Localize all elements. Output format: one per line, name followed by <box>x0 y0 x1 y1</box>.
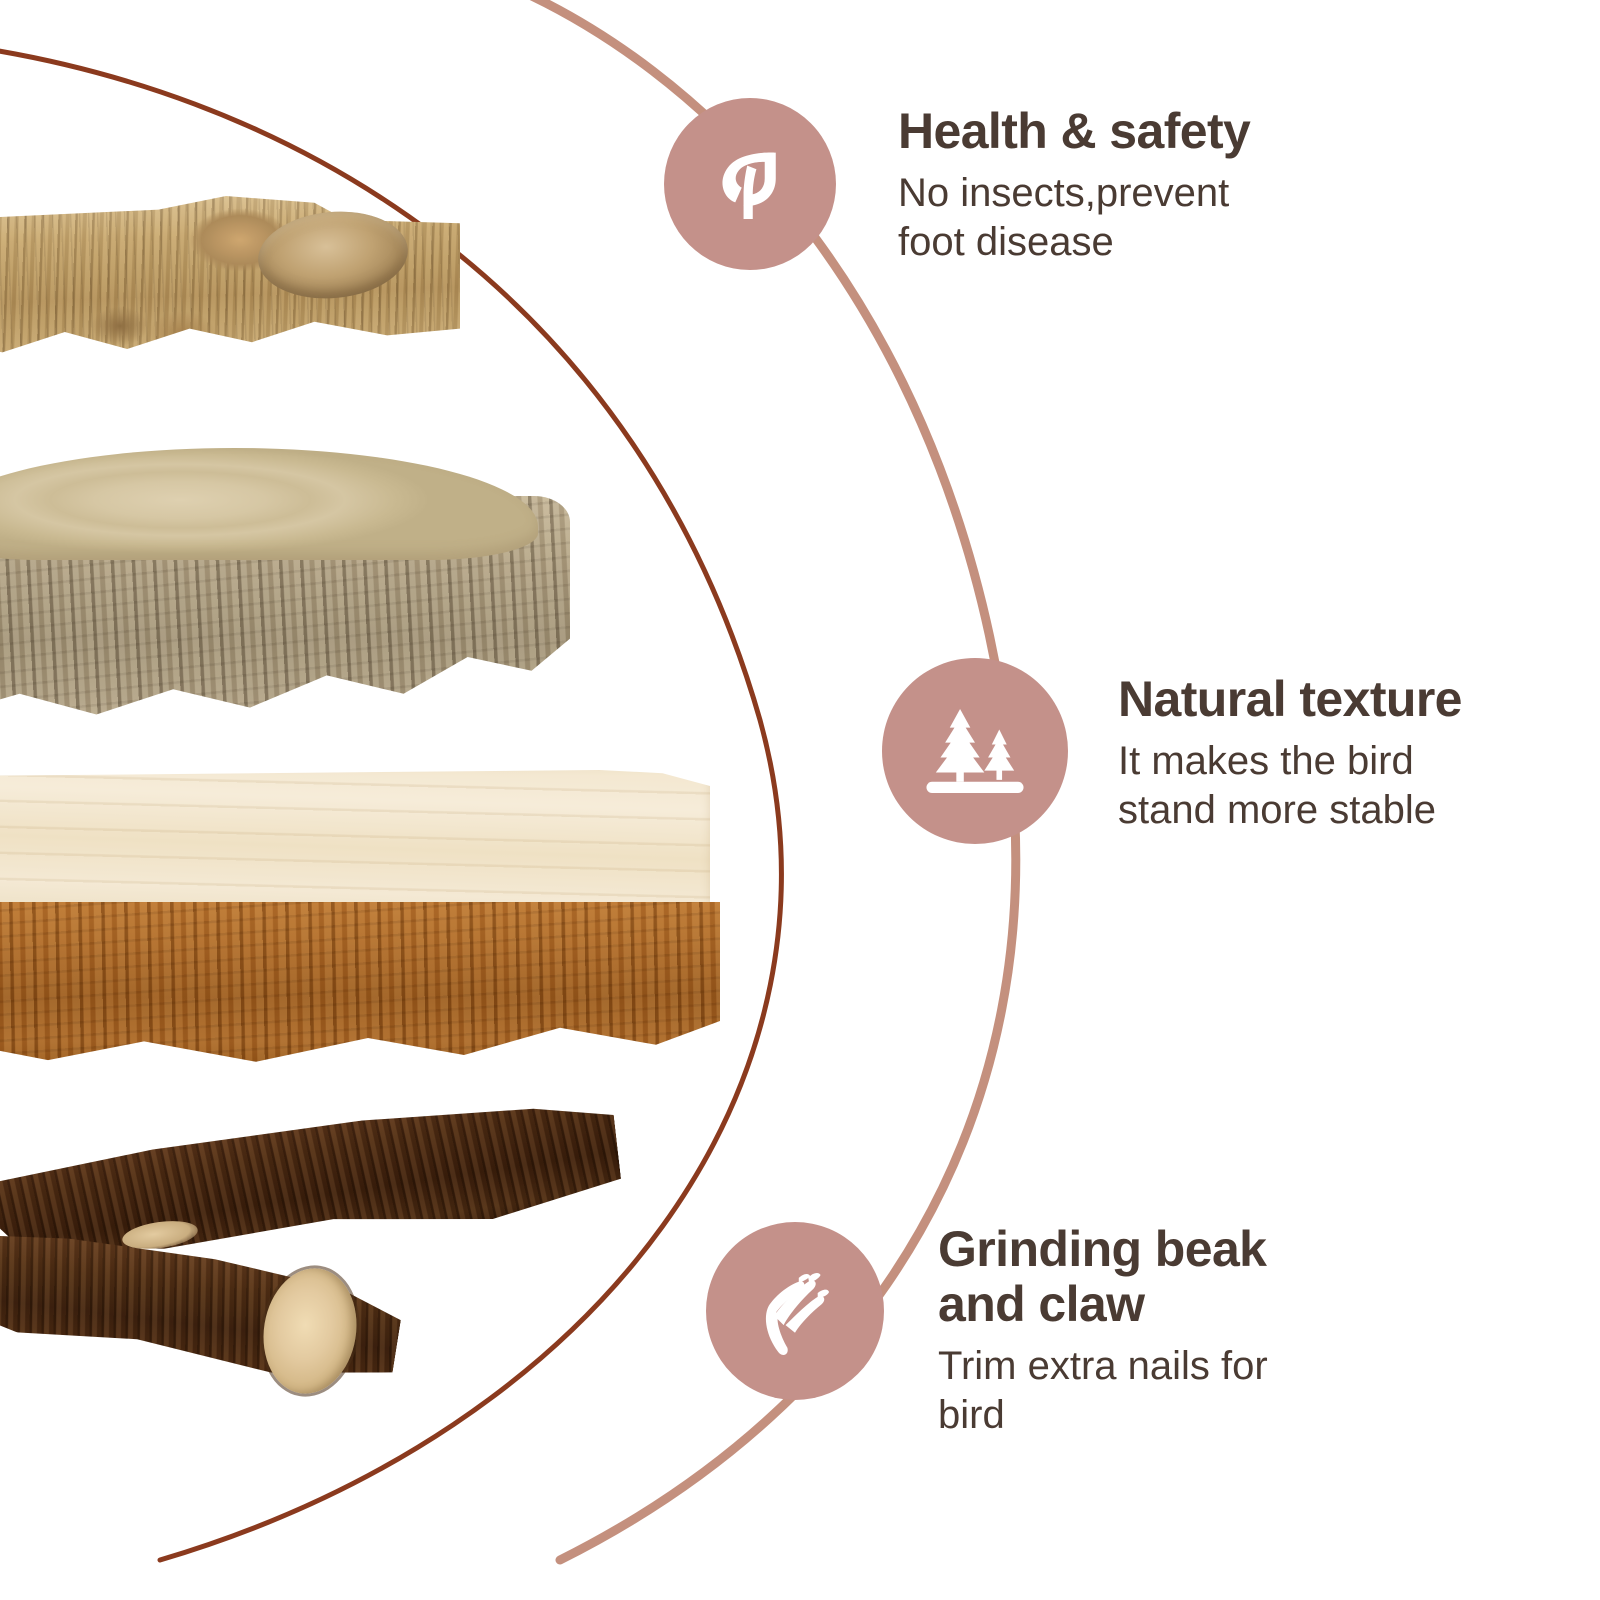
feature-health-safety: Health & safety No insects,prevent foot … <box>664 98 1250 270</box>
leaf-icon <box>704 138 796 230</box>
feature-title: Grinding beak and claw <box>938 1222 1268 1332</box>
feature-description: It makes the bird stand more stable <box>1118 737 1462 835</box>
infographic-canvas: Health & safety No insects,prevent foot … <box>0 0 1600 1600</box>
feature-description: Trim extra nails for bird <box>938 1342 1268 1440</box>
badge-natural-texture <box>882 658 1068 844</box>
pine-trees-icon <box>919 701 1031 801</box>
feature-title: Health & safety <box>898 104 1250 159</box>
feature-title: Natural texture <box>1118 672 1462 727</box>
bird-claw-icon <box>747 1259 843 1363</box>
feature-description: No insects,prevent foot disease <box>898 169 1250 267</box>
feature-grinding-beak-claw: Grinding beak and claw Trim extra nails … <box>706 1222 1268 1440</box>
badge-health-safety <box>664 98 836 270</box>
feature-natural-texture: Natural texture It makes the bird stand … <box>882 658 1462 844</box>
badge-grinding-beak-claw <box>706 1222 884 1400</box>
